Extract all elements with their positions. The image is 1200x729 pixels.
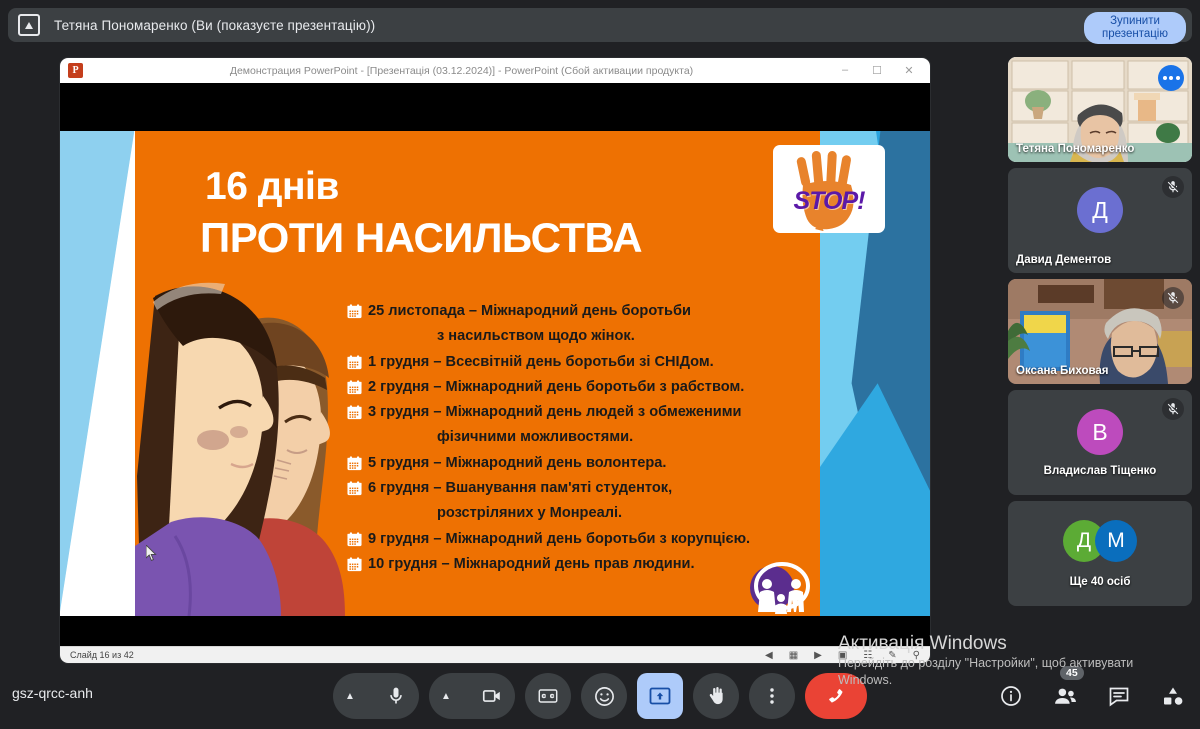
participant-tile[interactable]: Тетяна Пономаренко [1008,57,1192,162]
slide-menu-icon[interactable]: ▦ [789,650,798,661]
slide-bullet-row: розстріляних у Монреалі. [347,501,812,526]
slide-bullet-text: 10 грудня – Міжнародний день прав людини… [368,552,812,577]
calendar-icon [347,557,362,572]
tile-more-options-button[interactable] [1158,65,1184,91]
presentation-banner: Тетяна Пономаренко (Ви (показуєте презен… [8,8,1192,42]
slide-bullet-text: розстріляних у Монреалі. [437,501,812,526]
slide-heading-line1: 16 днів [205,167,339,206]
more-options-button[interactable] [749,673,795,719]
slide-bullet-row: 5 грудня – Міжнародний день волонтера. [347,451,812,476]
present-button[interactable] [637,673,683,719]
stop-badge: STOP! [773,145,885,233]
participant-tile[interactable]: В Владислав Тіщенко [1008,390,1192,495]
calendar-icon [347,405,362,420]
next-slide-icon[interactable]: ▶ [814,650,822,661]
slide-left-panel [60,131,135,616]
present-to-all-icon [18,14,40,36]
slide-bullet-row: 3 грудня – Міжнародний день людей з обме… [347,400,812,425]
meeting-code: gsz-qrcc-anh [12,685,93,701]
microphone-off-icon [1162,176,1184,198]
maximize-icon[interactable]: ☐ [872,64,882,77]
slide-bullet-text: 5 грудня – Міжнародний день волонтера. [368,451,812,476]
slide-bullet-list: 25 листопада – Міжнародний день боротьби… [347,299,812,577]
minimize-icon[interactable]: – [840,64,850,77]
stop-text: STOP! [773,187,885,216]
slide-bullet-row: 1 грудня – Всесвітній день боротьби зі С… [347,350,812,375]
slide-bullet-row: 25 листопада – Міжнародний день боротьби [347,299,812,324]
window-controls[interactable]: – ☐ ✕ [840,64,914,77]
slide-bullet-row: 2 грудня – Міжнародний день боротьби з р… [347,375,812,400]
powerpoint-slideshow-area: 16 днів ПРОТИ НАСИЛЬСТВА STOP! 2 [60,83,930,663]
microphone-off-icon [1162,287,1184,309]
camera-button[interactable]: ▲ [429,673,515,719]
watermark-subtitle: Перейдіть до розділу "Настройки", щоб ак… [838,655,1168,689]
blue-triangle-decoration [60,131,135,616]
family-logo-icon [748,558,818,614]
slide-bullet-text: 9 грудня – Міжнародний день боротьби з к… [368,527,812,552]
overflow-label: Ще 40 осіб [1008,576,1192,588]
powerpoint-window-title: Демонстрация PowerPoint - [Презентація (… [83,65,840,77]
powerpoint-status-bar: Слайд 16 из 42 ◀ ▦ ▶ ▣ ☷ ✎ ⚲ [60,646,930,663]
slide-bullet-row: фізичними можливостями. [347,425,812,450]
presenter-label: Тетяна Пономаренко (Ви (показуєте презен… [54,18,375,33]
participant-rail: Тетяна Пономаренко Д Давид Дементов [1008,57,1192,612]
slide-bullet-row: 10 грудня – Міжнародний день прав людини… [347,552,812,577]
chevron-up-icon[interactable]: ▲ [441,691,451,702]
chevron-up-icon[interactable]: ▲ [345,691,355,702]
slide-bullet-row: 9 грудня – Міжнародний день боротьби з к… [347,527,812,552]
video-camera-icon [475,685,509,707]
microphone-off-icon [1162,398,1184,420]
avatar: Д [1077,187,1123,233]
participant-tile[interactable]: Оксана Биховая [1008,279,1192,384]
calendar-icon [347,380,362,395]
previous-slide-icon[interactable]: ◀ [765,650,773,661]
watermark-title: Активація Windows [838,633,1168,655]
calendar-icon [347,355,362,370]
two-women-illustration [135,236,365,616]
slide-bullet-text: 3 грудня – Міжнародний день людей з обме… [368,400,812,425]
participant-name: Оксана Биховая [1016,365,1109,377]
slide-heading-line2: ПРОТИ НАСИЛЬСТВА [200,217,642,259]
participant-tile[interactable]: Д Давид Дементов [1008,168,1192,273]
captions-button[interactable] [525,673,571,719]
participant-name: Давид Дементов [1016,254,1111,266]
participant-name: Тетяна Пономаренко [1016,143,1134,155]
calendar-icon [347,304,362,319]
microphone-button[interactable]: ▲ [333,673,419,719]
mouse-cursor [146,545,157,561]
slide-bullet-text: з насильством щодо жінок. [437,324,812,349]
microphone-icon [379,686,413,706]
letterbox-top [60,83,930,131]
slide-bullet-text: 2 грудня – Міжнародний день боротьби з р… [368,375,812,400]
participant-name: Владислав Тіщенко [1008,465,1192,477]
shared-screen-stage[interactable]: P Демонстрация PowerPoint - [Презентація… [60,58,930,663]
slide-bullet-text: 25 листопада – Міжнародний день боротьби [368,299,812,324]
slide-bullet-text: 6 грудня – Вшанування пам'яті студенток, [368,476,812,501]
overflow-avatars: Д М [1063,520,1137,562]
slide-bullet-text: фізичними можливостями. [437,425,812,450]
raise-hand-button[interactable] [693,673,739,719]
windows-activation-watermark: Активація Windows Перейдіть до розділу "… [838,633,1168,689]
slide-bullet-row: з насильством щодо жінок. [347,324,812,349]
calendar-icon [347,532,362,547]
participant-overflow-tile[interactable]: Д М Ще 40 осіб [1008,501,1192,606]
stop-presentation-button[interactable]: Зупинити презентацію [1084,12,1186,44]
powerpoint-title-bar: P Демонстрация PowerPoint - [Презентація… [60,58,930,83]
avatar: В [1077,409,1123,455]
meeting-controls: ▲ ▲ [333,673,867,719]
close-icon[interactable]: ✕ [904,64,914,77]
avatar: М [1095,520,1137,562]
calendar-icon [347,481,362,496]
powerpoint-icon: P [68,63,83,78]
slide-counter: Слайд 16 из 42 [70,650,134,660]
slide-content: 16 днів ПРОТИ НАСИЛЬСТВА STOP! 2 [60,131,930,616]
slide-bullet-text: 1 грудня – Всесвітній день боротьби зі С… [368,350,812,375]
emoji-button[interactable] [581,673,627,719]
calendar-icon [347,456,362,471]
slide-bullet-row: 6 грудня – Вшанування пам'яті студенток, [347,476,812,501]
